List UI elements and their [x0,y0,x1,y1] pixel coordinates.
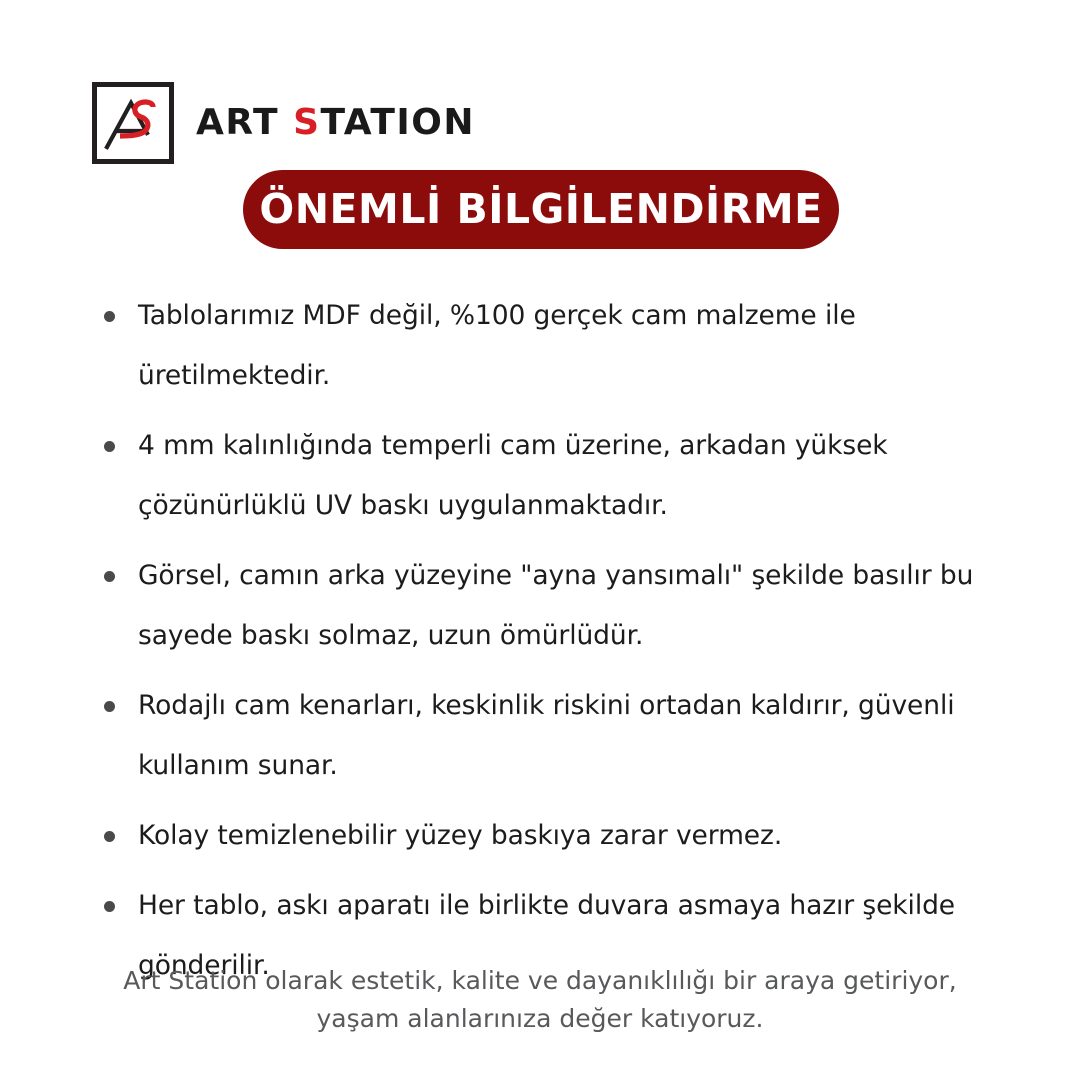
banner-title: ÖNEMLİ BİLGİLENDİRME [259,189,822,230]
brand-wordmark-s: S [293,102,320,143]
list-item: Kolay temizlenebilir yüzey baskıya zarar… [98,806,1038,866]
footer-tagline: Art Station olarak estetik, kalite ve da… [0,962,1080,1038]
brand-wordmark: ART STATION [196,105,475,141]
list-item: 4 mm kalınlığında temperli cam üzerine, … [98,416,1038,536]
list-item: Görsel, camın arka yüzeyine "ayna yansım… [98,546,1038,666]
list-item: Rodajlı cam kenarları, keskinlik riskini… [98,676,1038,796]
info-bullet-list: Tablolarımız MDF değil, %100 gerçek cam … [98,286,1038,1006]
list-item: Tablolarımız MDF değil, %100 gerçek cam … [98,286,1038,406]
banner: ÖNEMLİ BİLGİLENDİRME [243,170,839,249]
art-station-monogram-icon [92,82,174,164]
footer-tagline-line-2: yaşam alanlarınıza değer katıyoruz. [0,1000,1080,1038]
info-card: ART STATION ÖNEMLİ BİLGİLENDİRME Tablola… [0,0,1080,1080]
footer-tagline-line-1: Art Station olarak estetik, kalite ve da… [0,962,1080,1000]
brand-logo: ART STATION [92,82,475,164]
brand-wordmark-tation: TATION [321,102,476,143]
brand-wordmark-art: ART [196,102,293,143]
